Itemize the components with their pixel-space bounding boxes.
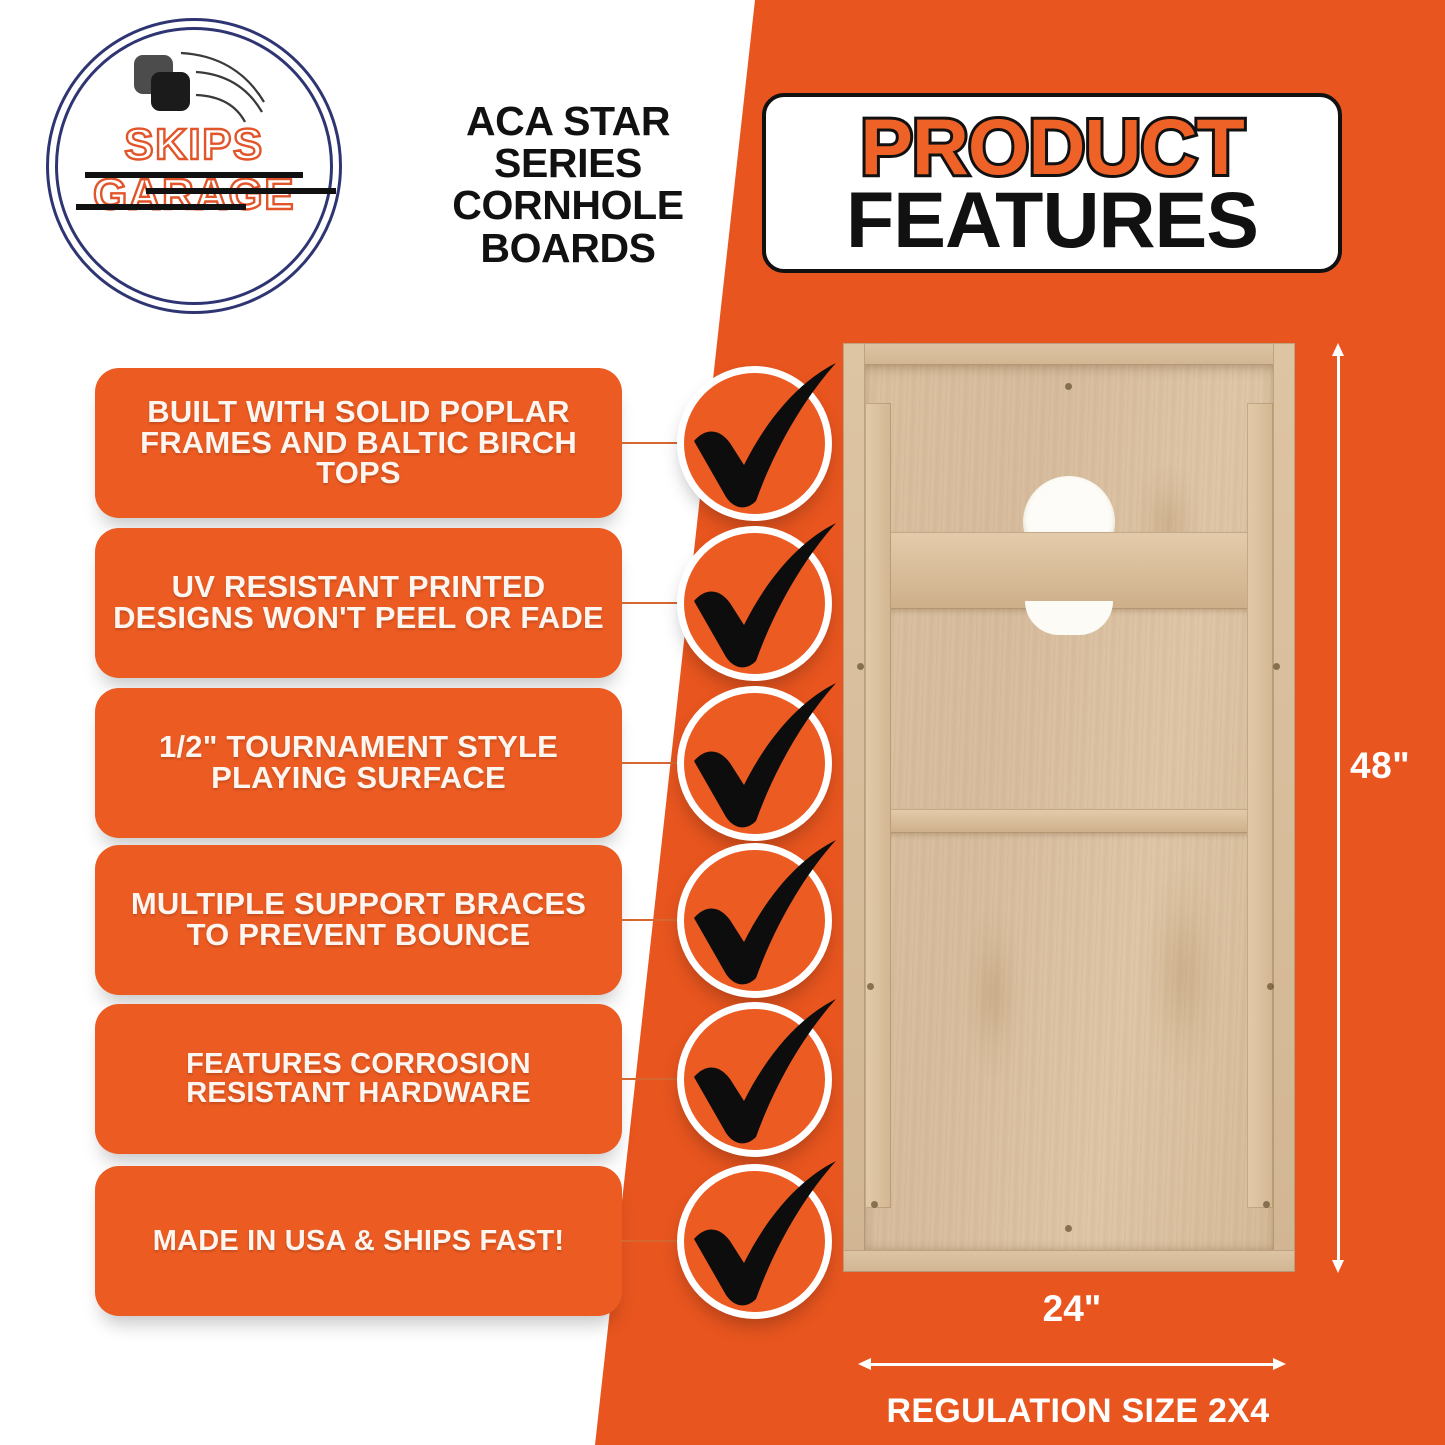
banner-word-features: FEATURES xyxy=(846,182,1258,257)
feature-pill: 1/2" TOURNAMENT STYLE PLAYING SURFACE xyxy=(95,688,622,838)
feature-pill: BUILT WITH SOLID POPLAR FRAMES AND BALTI… xyxy=(95,368,622,518)
arrow-down-icon xyxy=(1332,1260,1344,1273)
feature-row: MULTIPLE SUPPORT BRACES TO PREVENT BOUNC… xyxy=(0,845,900,995)
feature-label: FEATURES CORROSION RESISTANT HARDWARE xyxy=(113,1050,604,1107)
board-frame-rail-right xyxy=(1273,343,1295,1272)
brand-logo: SKIPS GARAGE xyxy=(38,10,368,320)
screw-head xyxy=(1065,1225,1072,1232)
dimension-line xyxy=(1337,353,1340,1263)
logo-underline-group xyxy=(38,172,350,220)
product-features-banner: PRODUCT FEATURES xyxy=(762,93,1342,273)
logo-underline-2 xyxy=(146,188,336,194)
feature-row: UV RESISTANT PRINTED DESIGNS WON'T PEEL … xyxy=(0,528,900,678)
width-dimension-label: 24" xyxy=(858,1288,1286,1330)
screw-head xyxy=(1273,663,1280,670)
board-support-brace xyxy=(865,532,1273,609)
feature-pill: FEATURES CORROSION RESISTANT HARDWARE xyxy=(95,1004,622,1154)
regulation-size-note: REGULATION SIZE 2X4 xyxy=(838,1392,1318,1431)
feature-pill: UV RESISTANT PRINTED DESIGNS WON'T PEEL … xyxy=(95,528,622,678)
feature-check-circle xyxy=(677,843,832,998)
feature-check-circle xyxy=(677,1002,832,1157)
board-support-brace xyxy=(865,809,1273,833)
height-dimension-label: 48" xyxy=(1350,745,1410,787)
board-frame-rail-top xyxy=(843,343,1295,365)
wood-knot xyxy=(1143,863,1223,1083)
feature-row: MADE IN USA & SHIPS FAST! xyxy=(0,1166,900,1316)
feature-check-circle xyxy=(677,526,832,681)
page-title: ACA STAR SERIES CORNHOLE BOARDS xyxy=(398,100,738,269)
cornhole-board-image xyxy=(843,343,1295,1272)
height-dimension-arrow xyxy=(1332,343,1344,1273)
feature-label: MULTIPLE SUPPORT BRACES TO PREVENT BOUNC… xyxy=(113,889,604,950)
feature-check-circle xyxy=(677,1164,832,1319)
screw-head xyxy=(1267,983,1274,990)
feature-row: 1/2" TOURNAMENT STYLE PLAYING SURFACE xyxy=(0,688,900,838)
logo-underline-3 xyxy=(76,204,246,210)
infographic-canvas: SKIPS GARAGE ACA STAR SERIES CORNHOLE BO… xyxy=(0,0,1445,1445)
feature-pill: MADE IN USA & SHIPS FAST! xyxy=(95,1166,622,1316)
screw-head xyxy=(1065,383,1072,390)
motion-arcs-icon xyxy=(178,50,278,125)
feature-label: UV RESISTANT PRINTED DESIGNS WON'T PEEL … xyxy=(113,572,604,633)
board-frame-rail-bottom xyxy=(843,1250,1295,1272)
feature-pill: MULTIPLE SUPPORT BRACES TO PREVENT BOUNC… xyxy=(95,845,622,995)
feature-row: FEATURES CORROSION RESISTANT HARDWARE xyxy=(0,1004,900,1154)
banner-word-product: PRODUCT xyxy=(860,109,1244,184)
screw-head xyxy=(1263,1201,1270,1208)
feature-check-circle xyxy=(677,366,832,521)
dimension-line xyxy=(868,1363,1276,1366)
arrow-right-icon xyxy=(1273,1358,1286,1370)
logo-underline-1 xyxy=(85,172,303,178)
feature-label: MADE IN USA & SHIPS FAST! xyxy=(153,1227,565,1256)
width-dimension-arrow xyxy=(858,1358,1286,1370)
feature-check-circle xyxy=(677,686,832,841)
feature-label: BUILT WITH SOLID POPLAR FRAMES AND BALTI… xyxy=(113,397,604,489)
wood-knot xyxy=(963,903,1023,1083)
feature-row: BUILT WITH SOLID POPLAR FRAMES AND BALTI… xyxy=(0,368,900,518)
board-side-stile xyxy=(1247,403,1273,1208)
feature-label: 1/2" TOURNAMENT STYLE PLAYING SURFACE xyxy=(113,732,604,793)
